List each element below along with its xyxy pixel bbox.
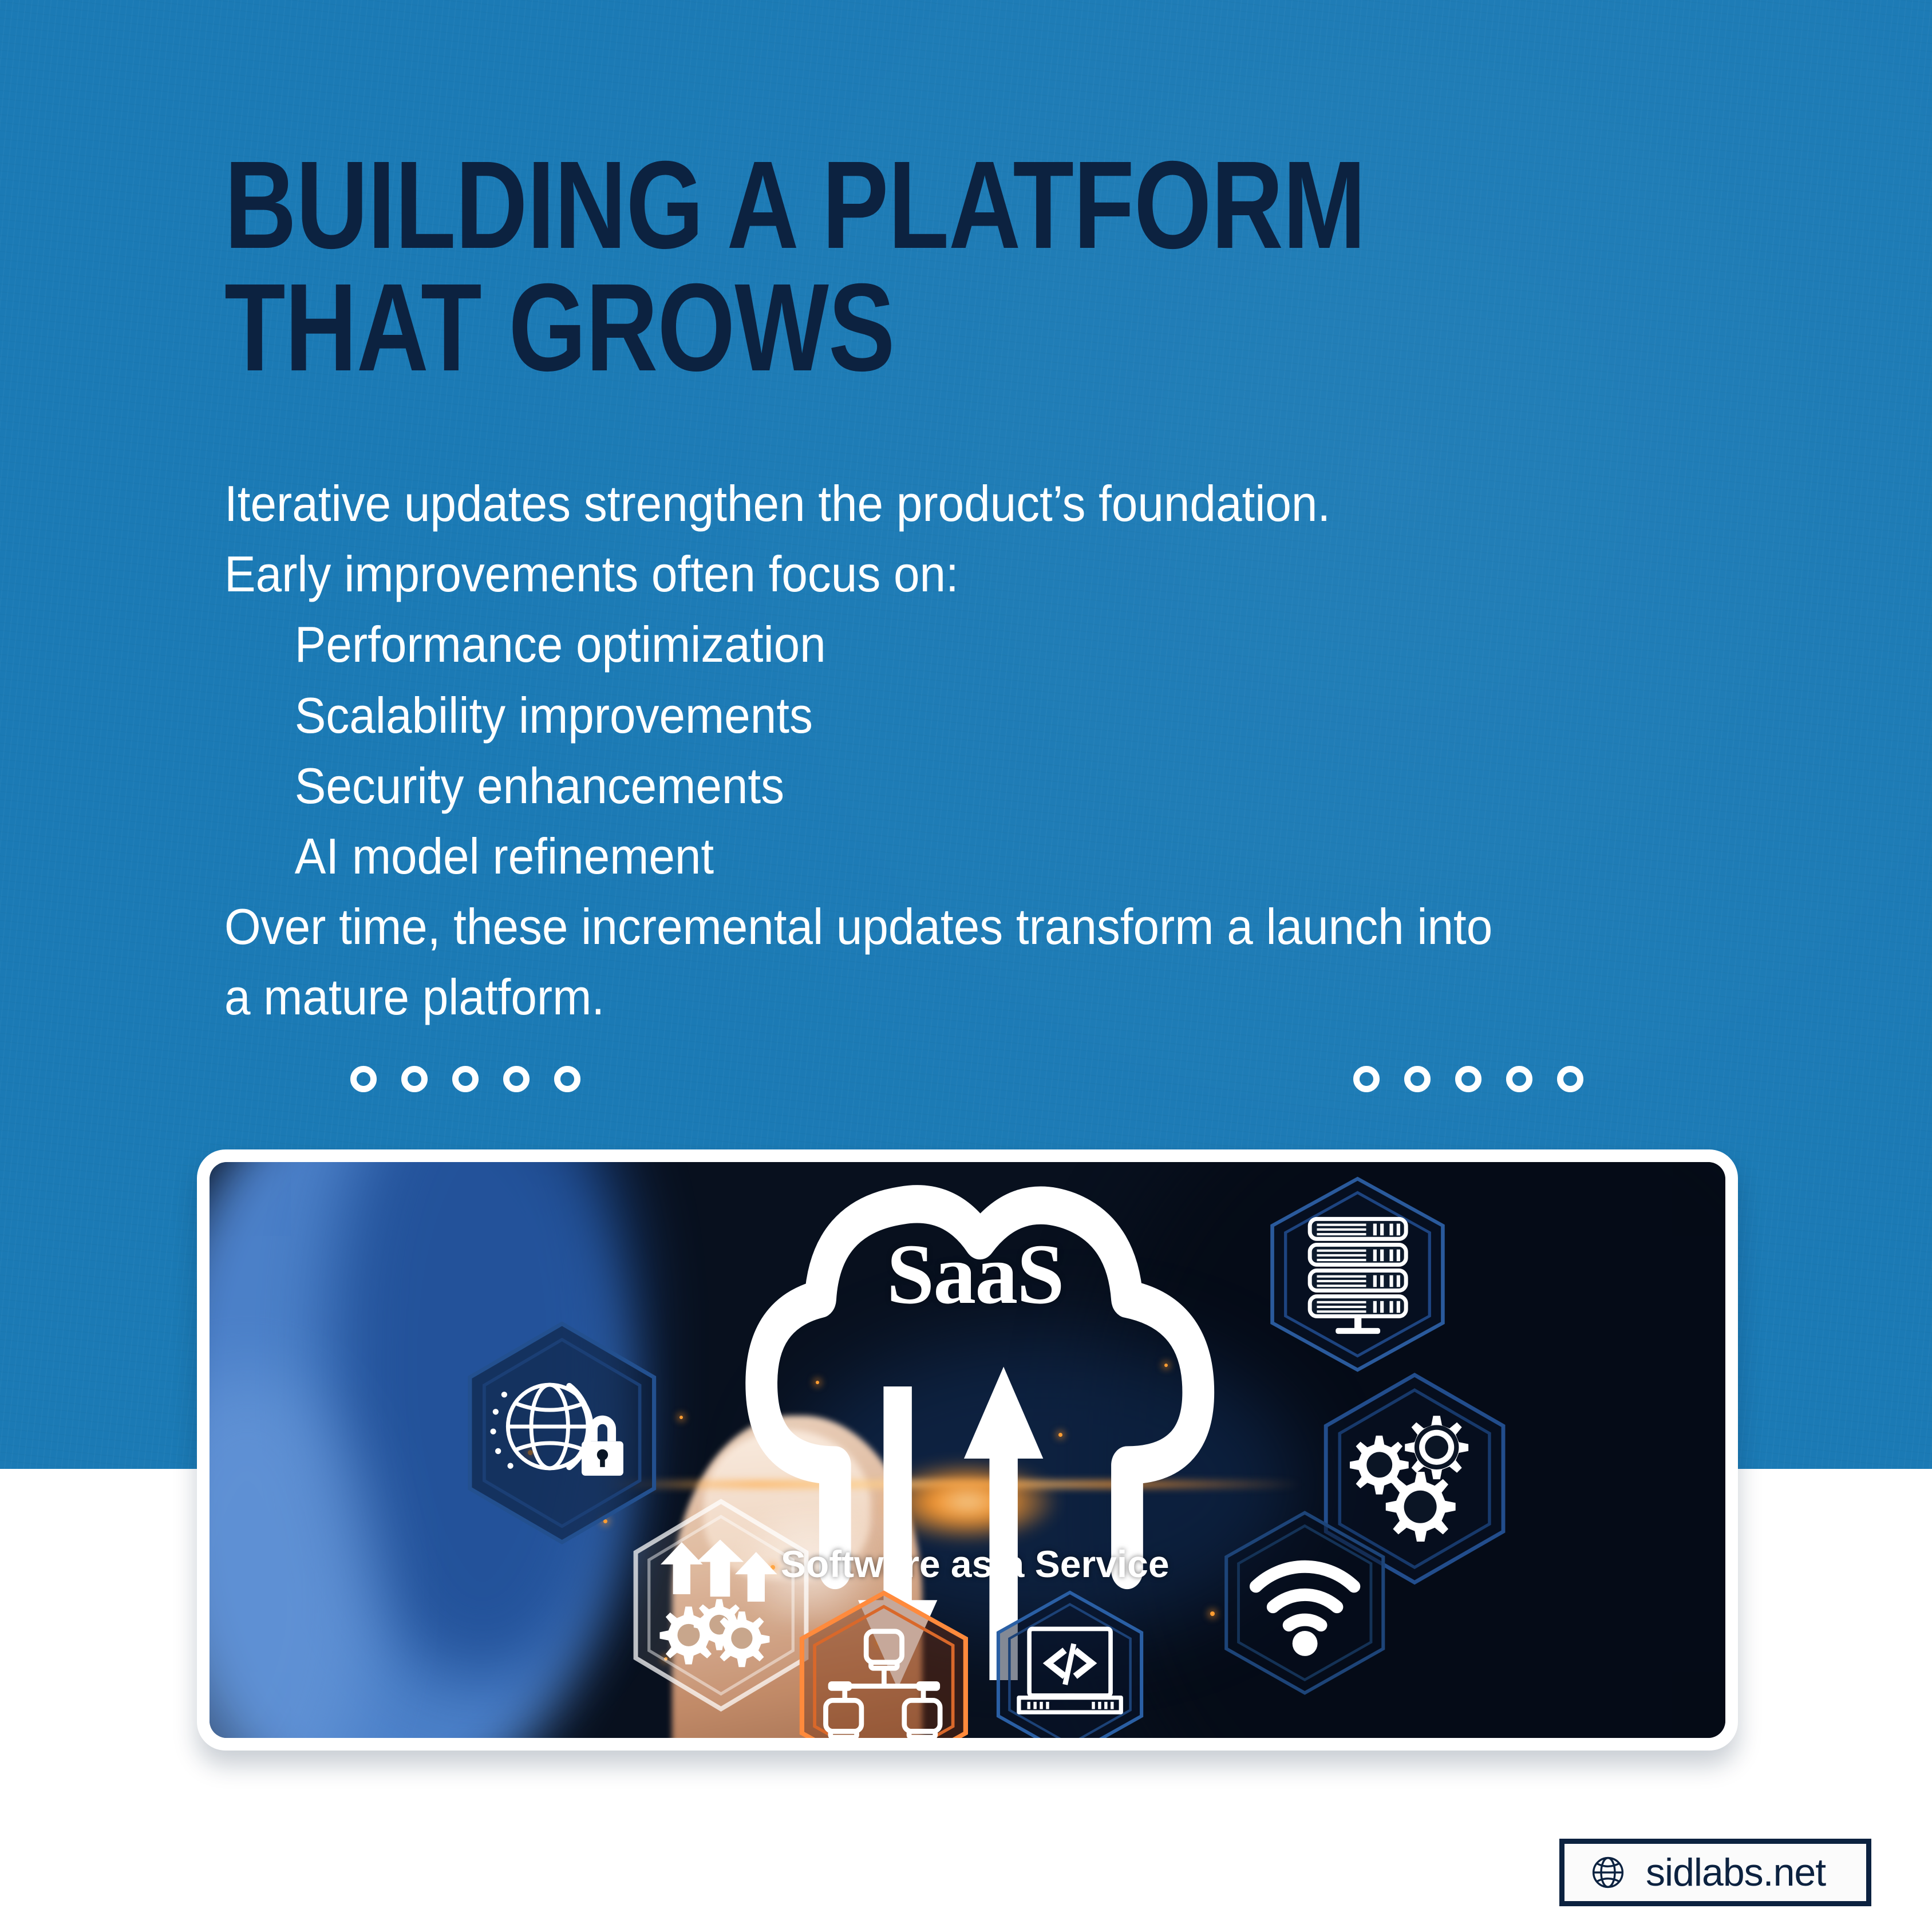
- saas-illustration: SaaS Software as a Service: [210, 1162, 1725, 1738]
- code-laptop-glyph: [1013, 1619, 1127, 1730]
- outro-line-2: a mature platform.: [224, 962, 1630, 1032]
- page-title: BUILDING A PLATFORM THAT GROWS: [224, 144, 1397, 389]
- hero-body-copy: Iterative updates strengthen the product…: [224, 468, 1630, 1033]
- globe-lock-glyph: [488, 1359, 635, 1507]
- network-icon: [793, 1588, 975, 1738]
- outro-line-1: Over time, these incremental updates tra…: [224, 891, 1630, 962]
- list-item: Scalability improvements: [224, 680, 1630, 750]
- dot-icon: [350, 1066, 377, 1092]
- wifi-glyph: [1242, 1542, 1368, 1663]
- dot-icon: [503, 1066, 530, 1092]
- decorative-dot-row: [0, 1066, 1932, 1129]
- code-laptop-icon: [990, 1588, 1149, 1738]
- wifi-icon: [1218, 1508, 1392, 1698]
- cloud-label: SaaS: [755, 1231, 1195, 1317]
- dot-icon: [401, 1066, 428, 1092]
- server-rack-glyph: [1290, 1210, 1426, 1338]
- site-badge-label: sidlabs.net: [1646, 1853, 1826, 1892]
- focus-list: Performance optimization Scalability imp…: [224, 609, 1630, 891]
- hero-image-card: SaaS Software as a Service: [197, 1149, 1738, 1751]
- list-item: AI model refinement: [224, 821, 1630, 891]
- site-badge[interactable]: sidlabs.net: [1559, 1839, 1871, 1906]
- dot-icon: [1353, 1066, 1380, 1092]
- dot-icon: [1506, 1066, 1532, 1092]
- growth-gears-icon: [626, 1496, 816, 1714]
- intro-line-1: Iterative updates strengthen the product…: [224, 468, 1630, 539]
- dot-group-right: [1353, 1066, 1583, 1092]
- dot-icon: [1404, 1066, 1431, 1092]
- dot-icon: [554, 1066, 580, 1092]
- dot-icon: [1557, 1066, 1583, 1092]
- spark-particle: [679, 1416, 683, 1419]
- list-item: Security enhancements: [224, 750, 1630, 821]
- dot-icon: [1455, 1066, 1481, 1092]
- list-item: Performance optimization: [224, 609, 1630, 679]
- network-glyph: [819, 1623, 950, 1738]
- dot-icon: [452, 1066, 479, 1092]
- server-rack-icon: [1263, 1174, 1452, 1375]
- intro-line-2: Early improvements often focus on:: [224, 539, 1630, 609]
- globe-icon: [1590, 1854, 1626, 1891]
- background-blob: [210, 1369, 376, 1738]
- dot-group-left: [350, 1066, 580, 1092]
- growth-gears-glyph: [653, 1535, 789, 1676]
